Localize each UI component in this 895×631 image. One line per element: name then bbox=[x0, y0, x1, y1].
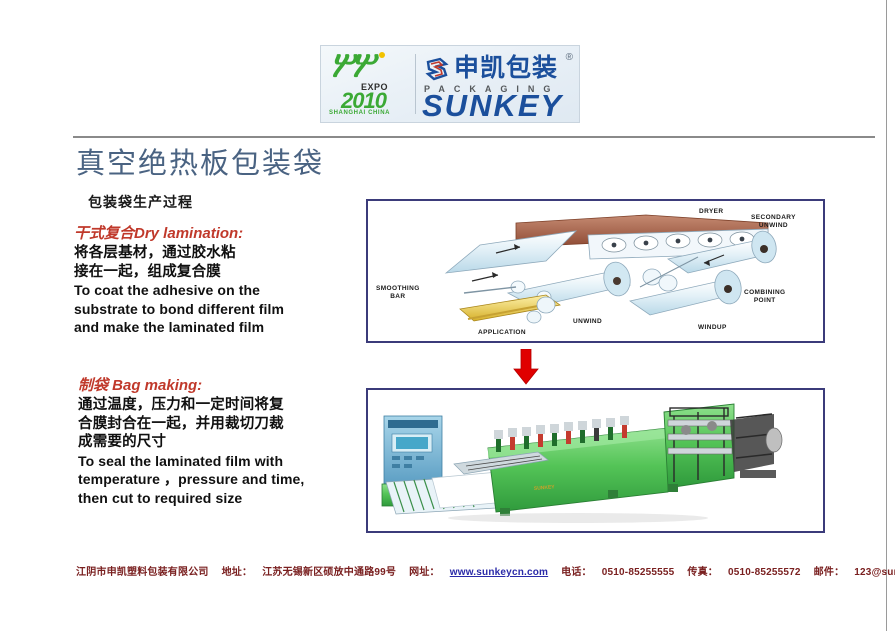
footer-contact-bar: 江阴市申凯塑料包装有限公司 地址：江苏无锡新区硕放中通路99号 网址：www.s… bbox=[76, 563, 876, 578]
text-block-bag-making: 制袋 Bag making: 通过温度，压力和一定时间将复 合膜封合在一起，并用… bbox=[78, 374, 304, 507]
fig-label-application: APPLICATION bbox=[478, 329, 526, 337]
block-line-cn: 通过温度，压力和一定时间将复 bbox=[78, 396, 304, 415]
fig-label-unwind: UNWIND bbox=[573, 318, 602, 326]
machine-illustration: SUNKEY bbox=[368, 390, 823, 531]
sunkey-logo: 申凯包装 ® PACKAGING SUNKEY bbox=[422, 46, 579, 122]
text-block-dry-lamination: 干式复合Dry lamination: 将各层基材，通过胶水粘 接在一起，组成复… bbox=[74, 222, 284, 337]
block-line-en: substrate to bond different film bbox=[74, 300, 284, 319]
company-name-cn: 申凯包装 bbox=[454, 54, 558, 82]
block-line-cn: 接在一起，组成复合膜 bbox=[74, 263, 284, 282]
footer-website-label: 网址： bbox=[409, 567, 440, 578]
block-line-en: temperature ，pressure and time, bbox=[78, 470, 304, 489]
footer-tel-label: 电话： bbox=[561, 567, 592, 578]
page-border-right bbox=[886, 0, 887, 631]
logo-divider bbox=[415, 54, 416, 114]
fig-label-dryer: DRYER bbox=[699, 208, 724, 216]
block-line-en: then cut to required size bbox=[78, 489, 304, 508]
footer-address-label: 地址： bbox=[222, 567, 253, 578]
slide-page: ሦሦ EXPO 2010 SHANGHAI CHINA 申凯包装 ® PACKA… bbox=[0, 0, 895, 631]
footer-website-link[interactable]: www.sunkeycn.com bbox=[450, 567, 548, 578]
header-logo-band: ሦሦ EXPO 2010 SHANGHAI CHINA 申凯包装 ® PACKA… bbox=[320, 45, 580, 123]
sunkey-s-emblem-icon bbox=[424, 56, 450, 82]
block-line-cn: 将各层基材，通过胶水粘 bbox=[74, 244, 284, 263]
footer-fax: 0510-85255572 bbox=[728, 567, 801, 578]
footer-email-label: 邮件： bbox=[814, 567, 845, 578]
block-heading: 制袋 Bag making: bbox=[78, 374, 304, 395]
expo-city-label: SHANGHAI CHINA bbox=[329, 110, 390, 116]
block-line-cn: 合膜封合在一起，并用裁切刀裁 bbox=[78, 415, 304, 434]
fig-label-secondary-unwind: SECONDARY UNWIND bbox=[751, 214, 796, 229]
fig-label-smoothing-bar: SMOOTHING BAR bbox=[376, 285, 420, 300]
page-subtitle: 包装袋生产过程 bbox=[88, 192, 193, 212]
red-down-arrow-icon bbox=[513, 349, 539, 385]
fig-label-combining-point: COMBINING POINT bbox=[744, 289, 786, 304]
block-line-en: and make the laminated film bbox=[74, 318, 284, 337]
page-title: 真空绝热板包装袋 bbox=[76, 140, 324, 182]
footer-company: 江阴市申凯塑料包装有限公司 bbox=[76, 567, 209, 578]
bag-making-machine-photo: SUNKEY bbox=[366, 388, 825, 533]
expo-2010-logo: ሦሦ EXPO 2010 SHANGHAI CHINA bbox=[321, 46, 413, 122]
fig-label-windup: WINDUP bbox=[698, 324, 727, 332]
registered-mark-icon: ® bbox=[566, 52, 573, 63]
title-divider-rule bbox=[73, 136, 875, 138]
expo-emblem-icon: ሦሦ bbox=[331, 46, 373, 84]
block-heading: 干式复合Dry lamination: bbox=[74, 222, 284, 243]
block-line-cn: 成需要的尺寸 bbox=[78, 433, 304, 452]
expo-dot-icon bbox=[379, 52, 385, 58]
footer-address: 江苏无锡新区硕放中通路99号 bbox=[262, 567, 396, 578]
dry-lamination-diagram: DRYER SECONDARY UNWIND COMBINING POINT S… bbox=[366, 199, 825, 343]
footer-email: 123@sunkeycn.com bbox=[854, 567, 895, 578]
footer-fax-label: 传真： bbox=[687, 567, 718, 578]
block-line-en: To coat the adhesive on the bbox=[74, 281, 284, 300]
block-line-en: To seal the laminated film with bbox=[78, 452, 304, 471]
company-name-en: SUNKEY bbox=[422, 90, 563, 122]
footer-tel: 0510-85255555 bbox=[602, 567, 675, 578]
